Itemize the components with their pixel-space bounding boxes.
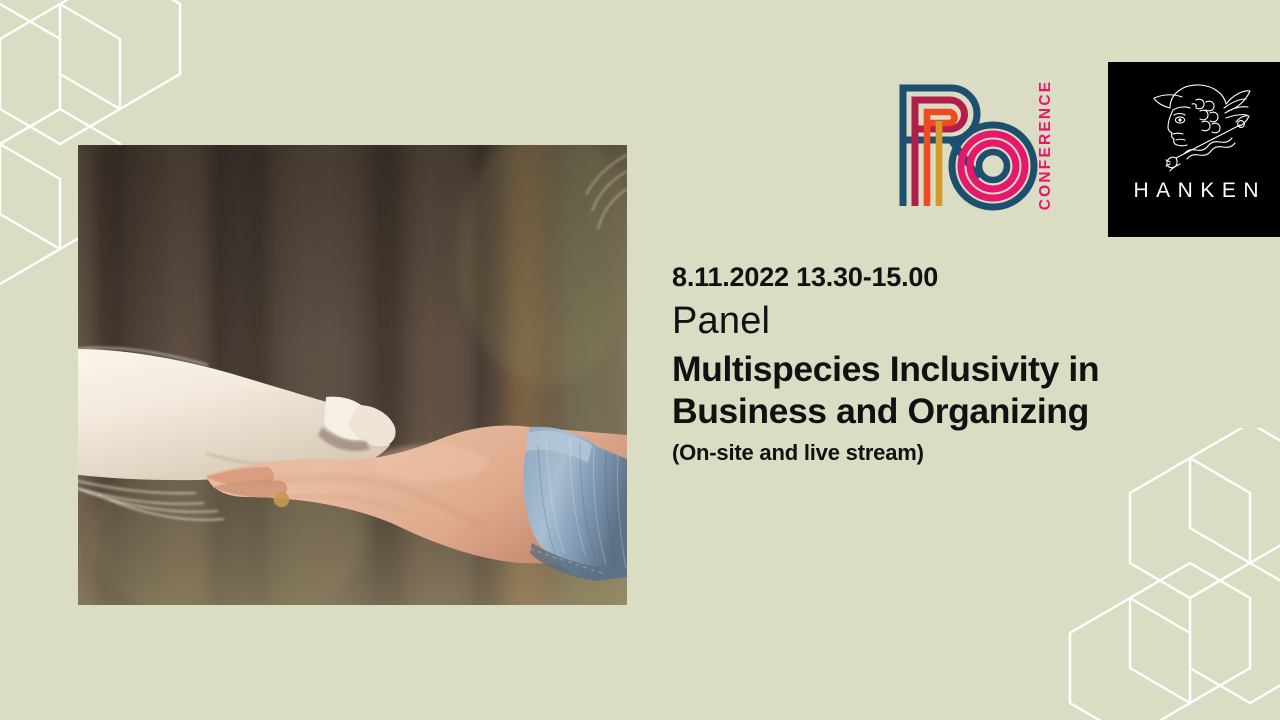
conference-label-text: CONFERENCE	[1037, 79, 1055, 210]
hexagon-pattern-bottom-right	[1050, 428, 1280, 720]
event-datetime: 8.11.2022 13.30-15.00	[672, 262, 1232, 294]
event-text-block: 8.11.2022 13.30-15.00 Panel Multispecies…	[672, 262, 1232, 466]
hanken-wordmark: HANKEN	[1126, 180, 1266, 201]
event-format: (On-site and live stream)	[672, 440, 1232, 466]
ro-letters-icon	[893, 74, 1041, 214]
hermes-head-icon	[1140, 78, 1252, 174]
event-title-line-2: Business and Organizing	[672, 391, 1232, 433]
hanken-logo: HANKEN	[1108, 62, 1280, 237]
conference-event-slide: CONFERENCE	[0, 0, 1280, 720]
event-type: Panel	[672, 298, 1232, 344]
event-photo	[78, 145, 627, 605]
event-title: Multispecies Inclusivity in Business and…	[672, 349, 1232, 432]
ro-conference-logo: CONFERENCE	[893, 62, 1079, 222]
event-title-line-1: Multispecies Inclusivity in	[672, 349, 1232, 391]
conference-vertical-label: CONFERENCE	[1033, 72, 1059, 217]
